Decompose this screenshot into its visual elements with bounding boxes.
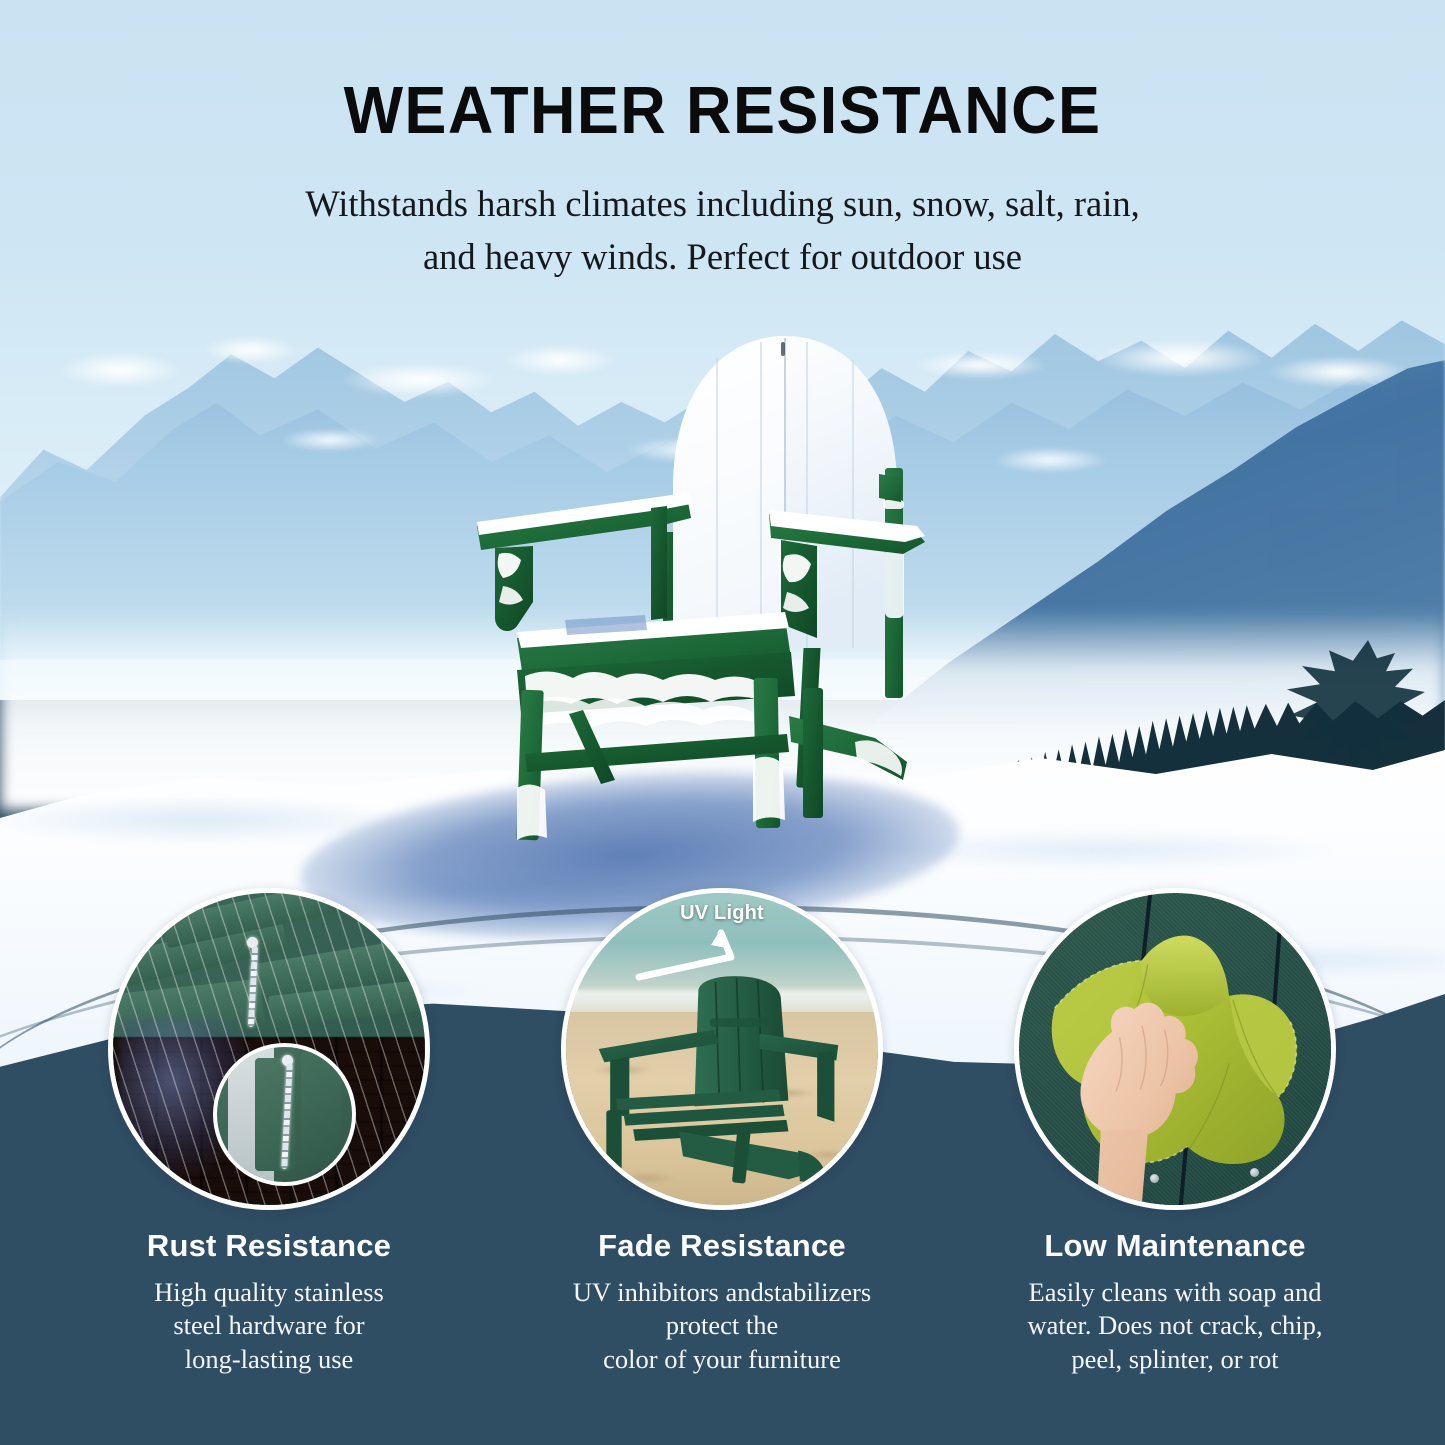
- feature-title-maintenance: Low Maintenance: [960, 1228, 1390, 1264]
- feature-desc-line-1: UV inhibitors andstabilizers: [507, 1276, 937, 1309]
- infographic-root: WEATHER RESISTANCE Withstands harsh clim…: [0, 0, 1445, 1445]
- page-title: WEATHER RESISTANCE: [43, 72, 1401, 149]
- feature-image-rust-resistance: [108, 888, 430, 1210]
- feature-description-fade: UV inhibitors andstabilizers protect the…: [507, 1276, 937, 1376]
- feature-card-fade-resistance: Fade Resistance UV inhibitors andstabili…: [507, 1228, 937, 1376]
- uv-light-label: UV Light: [566, 902, 878, 925]
- feature-desc-line-2: steel hardware for: [54, 1309, 484, 1342]
- feature-title-fade: Fade Resistance: [507, 1228, 937, 1264]
- green-chair-on-beach: [591, 974, 859, 1199]
- uv-light-arrow-icon: [635, 927, 765, 989]
- feature-desc-line-3: peel, splinter, or rot: [960, 1343, 1390, 1376]
- feature-card-low-maintenance: Low Maintenance Easily cleans with soap …: [960, 1228, 1390, 1376]
- feature-title-rust: Rust Resistance: [54, 1228, 484, 1264]
- feature-image-low-maintenance: [1014, 888, 1336, 1210]
- feature-card-rust-resistance: Rust Resistance High quality stainless s…: [54, 1228, 484, 1376]
- hand: [1069, 987, 1219, 1205]
- feature-description-maintenance: Easily cleans with soap and water. Does …: [960, 1276, 1390, 1376]
- page-subtitle: Withstands harsh climates including sun,…: [0, 178, 1445, 284]
- chain-detail-inset: [213, 1043, 357, 1187]
- feature-desc-line-1: Easily cleans with soap and: [960, 1276, 1390, 1309]
- feature-desc-line-2: protect the: [507, 1309, 937, 1342]
- feature-desc-line-1: High quality stainless: [54, 1276, 484, 1309]
- feature-description-rust: High quality stainless steel hardware fo…: [54, 1276, 484, 1376]
- feature-desc-line-2: water. Does not crack, chip,: [960, 1309, 1390, 1342]
- feature-desc-line-3: long-lasting use: [54, 1343, 484, 1376]
- feature-desc-line-3: color of your furniture: [507, 1343, 937, 1376]
- hero-snow-covered-chair: [455, 318, 955, 848]
- feature-image-fade-resistance: UV Light: [561, 888, 883, 1210]
- subtitle-line-2: and heavy winds. Perfect for outdoor use: [0, 231, 1445, 284]
- subtitle-line-1: Withstands harsh climates including sun,…: [0, 178, 1445, 231]
